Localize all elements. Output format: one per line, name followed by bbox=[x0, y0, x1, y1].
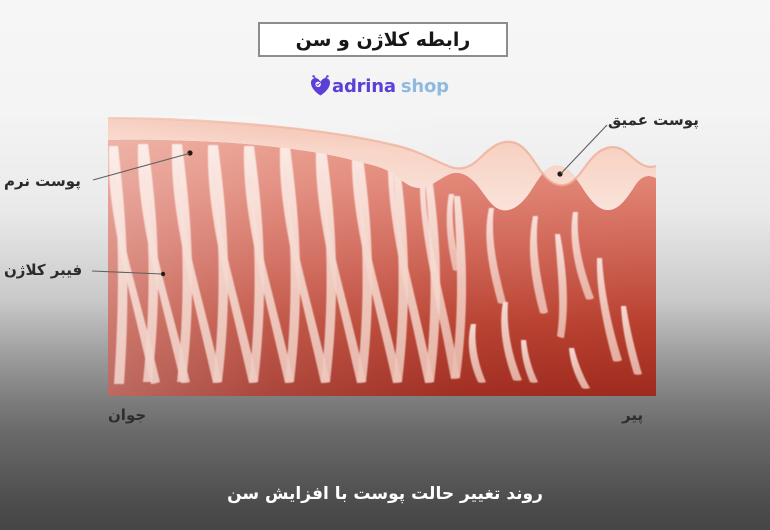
brand-logo[interactable]: adrina shop bbox=[311, 74, 449, 98]
title-box: رابطه کلاژن و سن bbox=[258, 22, 508, 57]
poster-canvas: رابطه کلاژن و سن adrina shop bbox=[0, 0, 770, 530]
brand-wordmark: adrina shop bbox=[332, 76, 449, 97]
brand-word-secondary: shop bbox=[401, 76, 449, 97]
callout-dot-collagen-fiber bbox=[161, 272, 165, 276]
callout-label-collagen-fiber: فیبر کلاژن bbox=[4, 261, 82, 279]
callout-dot-soft-skin bbox=[187, 150, 192, 155]
butterfly-icon bbox=[311, 75, 330, 97]
axis-label-young: جوان bbox=[108, 406, 146, 424]
page-title: رابطه کلاژن و سن bbox=[296, 29, 471, 51]
age-gradient-overlay bbox=[108, 116, 656, 396]
brand-word-primary: adrina bbox=[332, 76, 396, 97]
callout-dot-deep-skin bbox=[557, 171, 562, 176]
callout-label-deep-skin: پوست عمیق bbox=[608, 111, 699, 129]
skin-diagram-svg bbox=[108, 116, 656, 396]
skin-cross-section-diagram bbox=[108, 116, 656, 396]
callout-label-soft-skin: پوست نرم bbox=[4, 172, 81, 190]
footer-caption: روند تغییر حالت پوست با افزایش سن bbox=[0, 484, 770, 504]
axis-label-old: پیر bbox=[622, 406, 643, 424]
